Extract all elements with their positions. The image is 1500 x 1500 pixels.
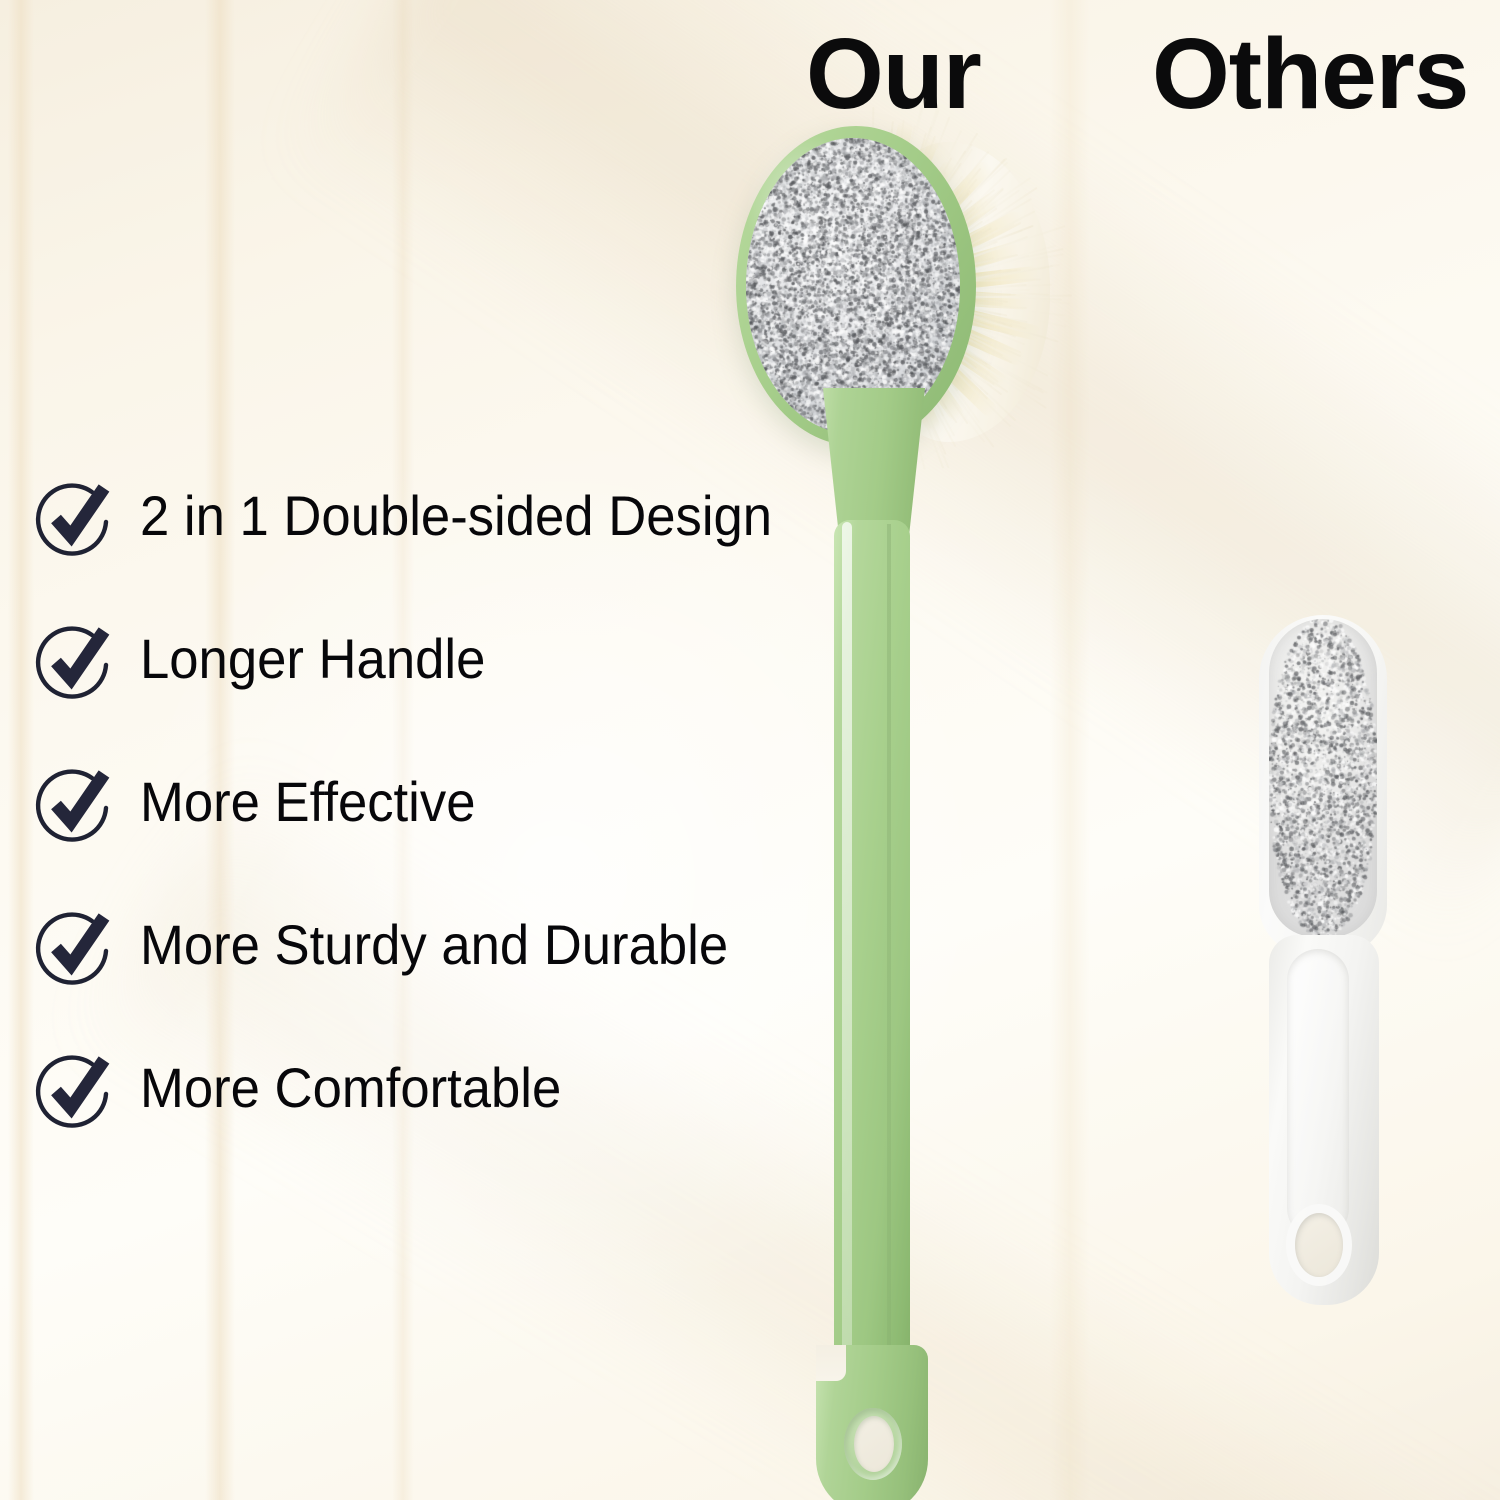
check-circle-icon [34,1050,114,1130]
pumice-pad [1269,619,1377,937]
others-product-image [1245,615,1425,1315]
handle-ridge [887,524,891,1394]
list-item-label: More Effective [140,762,475,842]
our-product-image [700,120,1100,1500]
list-item: 2 in 1 Double-sided Design [0,470,820,613]
pumice-texture [1269,619,1377,937]
handle-step-notch [816,1345,846,1381]
list-item-label: More Comfortable [140,1048,561,1128]
brush-neck [816,388,932,538]
list-item: More Sturdy and Durable [0,899,820,1042]
feature-list: 2 in 1 Double-sided Design Longer Handle… [0,470,820,1185]
product-comparison-image: Our Others 2 in 1 Double-sided Design Lo… [0,0,1500,1500]
list-item-label: 2 in 1 Double-sided Design [140,476,772,556]
check-circle-icon [34,478,114,558]
list-item: More Effective [0,756,820,899]
check-circle-icon [34,621,114,701]
grip-channel [1287,949,1349,1239]
handle-highlight [842,522,852,1392]
list-item: More Comfortable [0,1042,820,1185]
hanging-hole-opening [854,1416,894,1472]
check-circle-icon [34,764,114,844]
check-circle-icon [34,907,114,987]
hanging-hole [1295,1213,1343,1277]
heading-others: Others [1152,24,1468,124]
list-item-label: Longer Handle [140,619,485,699]
list-item-label: More Sturdy and Durable [140,905,728,985]
list-item: Longer Handle [0,613,820,756]
heading-our: Our [806,24,981,124]
